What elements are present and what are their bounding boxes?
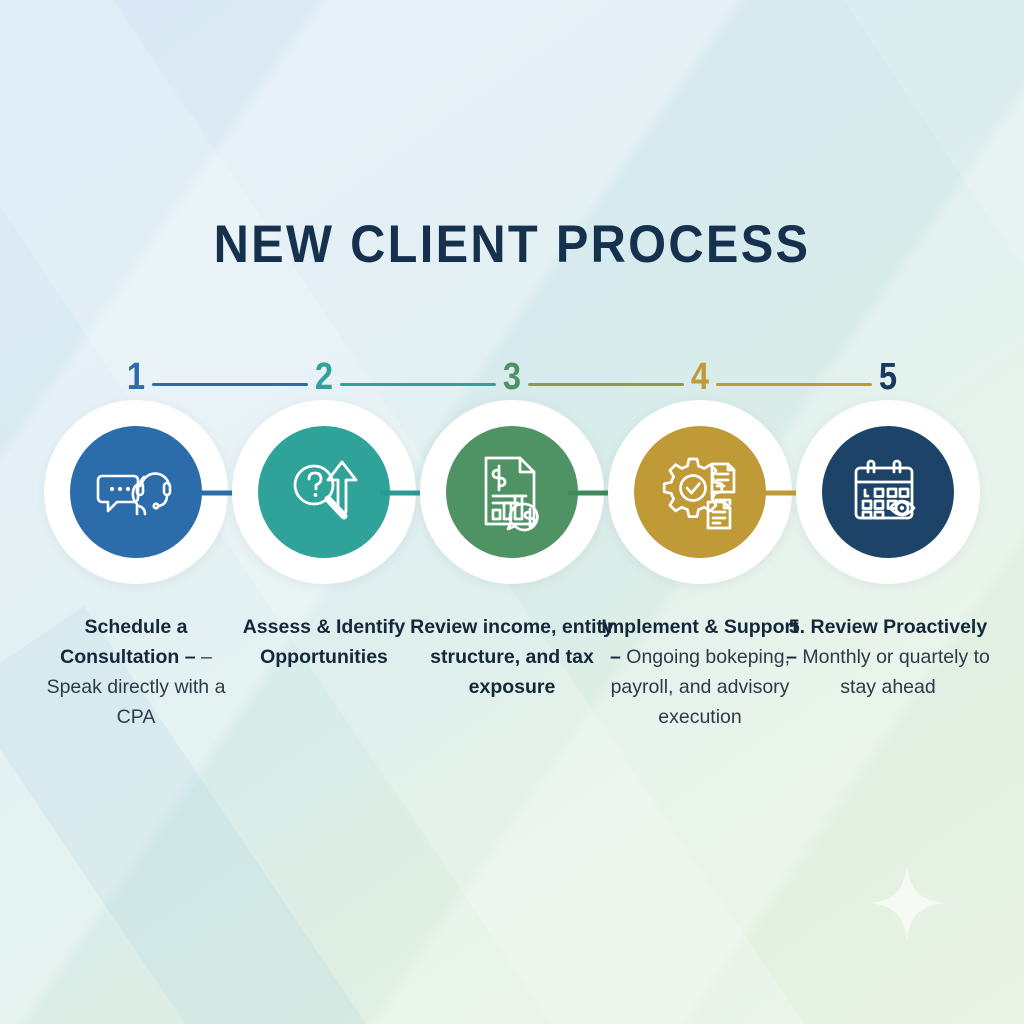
- step-heading-1: Schedule a Consultation –: [60, 616, 195, 668]
- calendar-eye-icon: [846, 450, 930, 534]
- step-body-5: Monthly or quartely to stay ahead: [802, 646, 990, 698]
- page-title: NEW CLIENT PROCESS: [41, 214, 983, 275]
- process-step-1[interactable]: 1: [42, 356, 230, 876]
- infographic-canvas: NEW CLIENT PROCESS 1: [0, 0, 1024, 1024]
- step-number-4: 4: [619, 356, 781, 398]
- step-caption-1: Schedule a Consultation – – Speak direct…: [32, 612, 240, 732]
- step-caption-2: Assess & Identify Opportunities: [220, 612, 428, 672]
- process-step-4[interactable]: 4: [606, 356, 794, 876]
- step-number-2: 2: [243, 356, 405, 398]
- step-circle-ring-5: [796, 400, 980, 584]
- step-icon-disc-2: [258, 426, 390, 558]
- step-heading-2: Assess & Identify Opportunities: [243, 616, 406, 668]
- process-step-5[interactable]: 5: [794, 356, 982, 876]
- step-number-5: 5: [807, 356, 969, 398]
- step-caption-4: Implement & Support – Ongoing bokeping, …: [596, 612, 804, 732]
- magnifier-question-arrow-up-icon: [284, 452, 364, 532]
- process-steps: 1: [42, 356, 982, 876]
- step-icon-disc-3: [446, 426, 578, 558]
- gear-check-documents-icon: [658, 450, 742, 534]
- process-step-2[interactable]: 2: [230, 356, 418, 876]
- step-number-1: 1: [55, 356, 217, 398]
- step-heading-3: Review income, entity structure, and tax…: [410, 616, 614, 698]
- process-step-3[interactable]: 3: [418, 356, 606, 876]
- step-body-4: Ongoing bokeping, payroll, and advisory …: [611, 646, 790, 728]
- financial-document-chart-dollar-icon: [470, 450, 554, 534]
- step-icon-disc-4: [634, 426, 766, 558]
- step-icon-disc-1: [70, 426, 202, 558]
- step-icon-disc-5: [822, 426, 954, 558]
- step-caption-5: 5. Review Proactively – Monthly or quart…: [784, 612, 992, 702]
- step-caption-3: Review income, entity structure, and tax…: [408, 612, 616, 702]
- step-number-3: 3: [431, 356, 593, 398]
- speech-bubble-headset-icon: [94, 450, 178, 534]
